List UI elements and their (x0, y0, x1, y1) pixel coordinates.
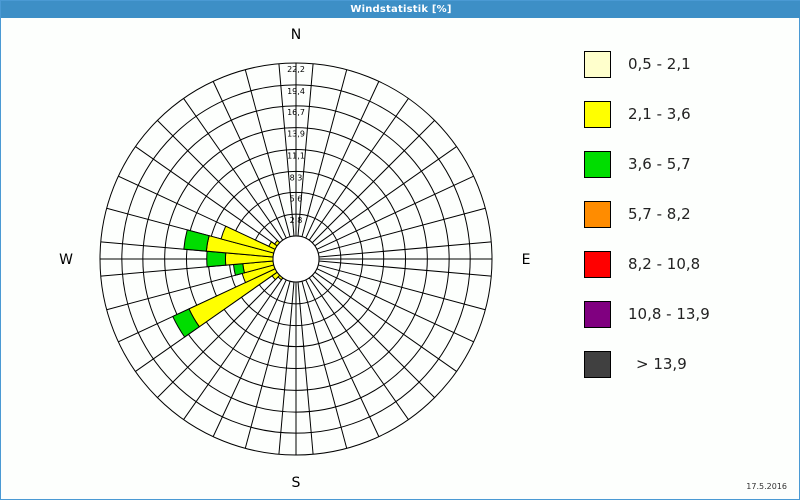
wind-rose-petal-segment (233, 264, 244, 276)
legend-swatch (584, 201, 611, 228)
wind-rose-petal-segment (189, 269, 277, 327)
legend-item[interactable]: 5,7 - 8,2 (584, 189, 794, 239)
polar-center-hub (273, 236, 319, 282)
compass-label-east: E (522, 252, 531, 268)
grid-spoke (312, 120, 434, 242)
legend-item-label: 0,5 - 2,1 (628, 55, 691, 73)
grid-spoke (245, 281, 290, 448)
radial-tick-label: 13,9 (287, 130, 305, 139)
grid-spoke (245, 70, 290, 237)
legend-item[interactable]: 10,8 - 13,9 (584, 289, 794, 339)
grid-spoke (312, 275, 434, 397)
wind-rose-petal-segment (207, 251, 226, 267)
legend-item[interactable]: 3,6 - 5,7 (584, 139, 794, 189)
legend-swatch (584, 101, 611, 128)
legend-item-label: 2,1 - 3,6 (628, 105, 691, 123)
legend-item-label: 10,8 - 13,9 (628, 305, 710, 323)
wind-statistics-window: Windstatistik [%] 2,85,68,311,113,916,71… (0, 0, 800, 500)
legend-swatch (584, 151, 611, 178)
legend-swatch (584, 301, 611, 328)
radial-tick-label: 8,3 (290, 173, 303, 182)
radial-tick-label: 22,2 (287, 65, 305, 74)
grid-spoke (157, 275, 279, 397)
legend-item[interactable]: 2,1 - 3,6 (584, 89, 794, 139)
compass-label-west: W (59, 252, 73, 268)
center-hub (273, 236, 319, 282)
legend-item[interactable]: 8,2 - 10,8 (584, 239, 794, 289)
compass-label-south: S (292, 475, 301, 491)
wind-rose-petal-segment (184, 230, 209, 251)
grid-spoke (306, 81, 379, 238)
legend-item[interactable]: > 13,9 (584, 339, 794, 389)
legend-item-label: > 13,9 (636, 355, 687, 373)
legend-swatch (584, 51, 611, 78)
grid-spoke (318, 265, 485, 310)
grid-spoke (317, 176, 474, 249)
legend-swatch (584, 351, 611, 378)
grid-spoke (213, 81, 286, 238)
window-title: Windstatistik [%] (350, 1, 451, 18)
grid-spoke (157, 120, 279, 242)
legend-item-label: 8,2 - 10,8 (628, 255, 700, 273)
legend-item[interactable]: 0,5 - 2,1 (584, 39, 794, 89)
radial-tick-label: 16,7 (287, 108, 305, 117)
legend-item-label: 5,7 - 8,2 (628, 205, 691, 223)
grid-spoke (302, 281, 347, 448)
legend: 0,5 - 2,1 2,1 - 3,6 3,6 - 5,7 5,7 - 8,2 … (584, 39, 794, 389)
compass-label-north: N (291, 27, 301, 43)
legend-swatch (584, 251, 611, 278)
legend-item-label: 3,6 - 5,7 (628, 155, 691, 173)
date-stamp: 17.5.2016 (746, 482, 787, 491)
grid-spoke (317, 269, 474, 342)
radial-tick-label: 19,4 (287, 87, 305, 96)
grid-spoke (306, 280, 379, 437)
radial-tick-label: 5,6 (290, 194, 303, 203)
grid-spoke (318, 208, 485, 253)
window-title-bar: Windstatistik [%] (1, 1, 800, 18)
radial-tick-label: 2,8 (290, 216, 303, 225)
grid-spoke (302, 70, 347, 237)
radial-tick-label: 11,1 (287, 152, 305, 161)
